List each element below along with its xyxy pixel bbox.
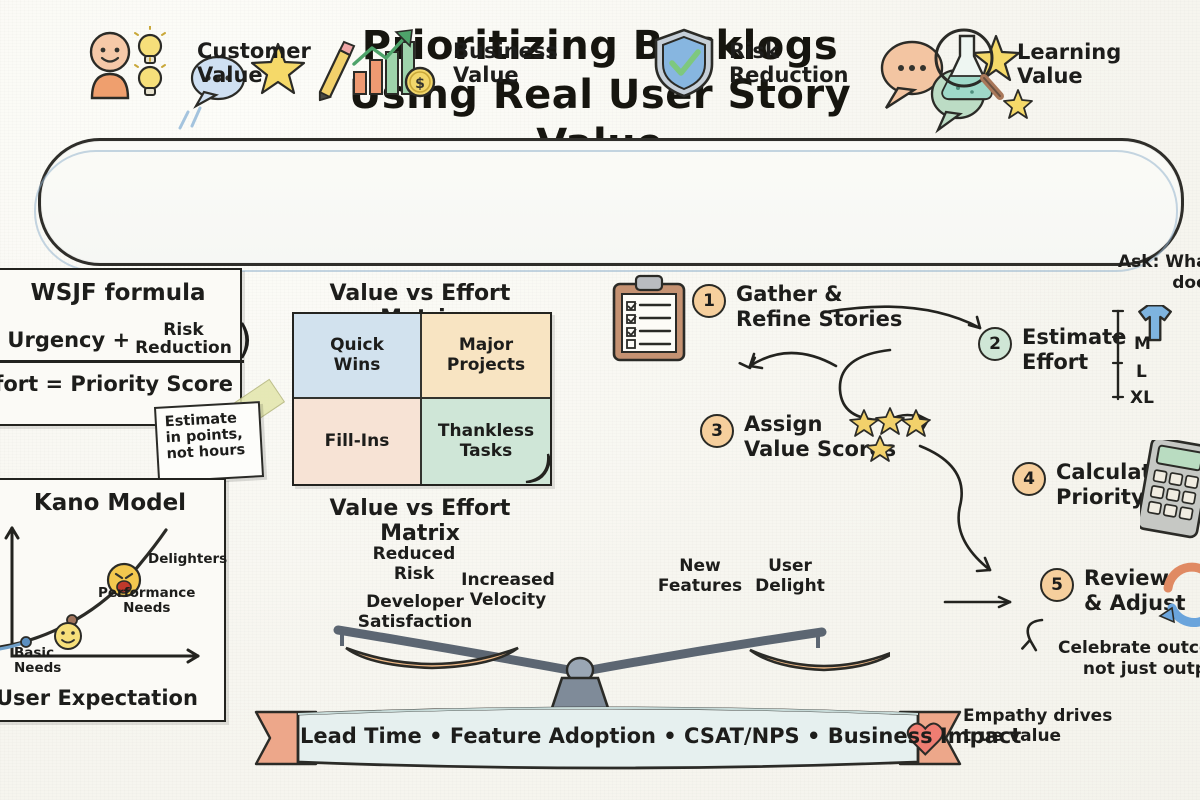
value-item-business[interactable]: $ Business Value <box>348 26 558 100</box>
person-lightbulb-icon <box>76 26 188 100</box>
value-types-banner <box>38 138 1184 266</box>
value-item-customer-label: Customer Value <box>197 39 311 87</box>
step-3-number: 3 <box>700 414 734 448</box>
step-2-number: 2 <box>978 327 1012 361</box>
value-item-learning[interactable]: Learning Value <box>928 26 1121 102</box>
kano-label-performance: Performance Needs <box>98 586 195 616</box>
tshirt-size-m: M <box>1134 334 1151 354</box>
value-item-learning-label: Learning Value <box>1017 40 1121 88</box>
value-item-business-label: Business Value <box>453 39 558 87</box>
celebrate-note-line-2: not just outpu <box>1058 659 1200 680</box>
matrix-quadrant-quick-wins[interactable]: QuickWins <box>294 314 422 399</box>
calculator-icon <box>1140 440 1200 540</box>
wsjf-title: WSJF formula <box>18 280 218 306</box>
metrics-ribbon-text: Lead Time • Feature Adoption • CSAT/NPS … <box>300 724 900 748</box>
flask-magnifier-icon <box>928 26 1008 102</box>
value-item-risk[interactable]: Risk Reduction <box>648 26 848 100</box>
celebrate-note-line-1: Celebrate outcor <box>1058 638 1200 659</box>
step-4-number: 4 <box>1012 462 1046 496</box>
matrix-quadrant-fill-ins[interactable]: Fill-Ins <box>294 399 422 484</box>
value-item-customer[interactable]: Customer Value <box>76 26 311 100</box>
value-effort-matrix: QuickWins MajorProjects Fill-Ins Thankle… <box>292 312 552 486</box>
celebrate-note: Celebrate outcor not just outpu <box>1058 638 1200 679</box>
bar-chart-dollar-icon: $ <box>348 26 444 100</box>
matrix-quadrant-major-projects[interactable]: MajorProjects <box>422 314 550 399</box>
kano-x-axis-label: User Expectation <box>0 686 198 710</box>
wsjf-fraction-bar <box>0 360 244 363</box>
ask-note: Ask: Wha doe <box>1118 252 1200 293</box>
matrix-page-curl-icon <box>520 452 558 490</box>
wsjf-risk-reduction: Risk Reduction <box>135 322 232 358</box>
step-1-label: Gather & Refine Stories <box>736 282 902 332</box>
ask-note-line-1: Ask: Wha <box>1118 252 1200 273</box>
svg-text:$: $ <box>415 76 425 92</box>
step-1-gather-refine-stories[interactable]: 1 Gather & Refine Stories <box>692 282 902 332</box>
tshirt-size-xl: XL <box>1130 388 1154 408</box>
scale-label-user-delight: User Delight <box>744 556 836 597</box>
scale-label-increased-velocity: Increased Velocity <box>456 570 560 611</box>
stars-icon <box>848 406 938 462</box>
wsjf-denominator: Effort = Priority Score <box>0 372 233 396</box>
value-item-risk-label: Risk Reduction <box>729 39 848 87</box>
wsjf-numerator: ue + Urgency + Risk Reduction ) <box>0 322 252 358</box>
empathy-note: Empathy drives true value <box>963 706 1112 747</box>
kano-label-basic: Basic Needs <box>14 646 61 676</box>
step-5-number: 5 <box>1040 568 1074 602</box>
clipboard-checklist-icon <box>608 272 692 364</box>
wsjf-numerator-text: ue + Urgency + <box>0 328 130 352</box>
kano-label-delighters: Delighters <box>148 552 227 567</box>
estimate-sticky-note: Estimate in points, not hours <box>154 401 264 483</box>
shield-check-icon <box>648 26 720 100</box>
sticky-note-text: Estimate in points, not hours <box>156 403 261 463</box>
scale-label-new-features: New Features <box>650 556 750 597</box>
step-1-number: 1 <box>692 284 726 318</box>
tshirt-size-l: L <box>1136 362 1147 382</box>
kano-title: Kano Model <box>20 490 200 516</box>
matrix-title-bottom: Value vs Effort Matrix <box>288 496 552 546</box>
ask-note-line-2: doe <box>1118 273 1200 294</box>
scale-label-reduced-risk: Reduced Risk <box>360 544 468 585</box>
step-2-estimate-effort[interactable]: 2 Estimate Effort <box>978 325 1126 375</box>
wsjf-close-paren: ) <box>237 323 253 357</box>
refresh-arrows-icon <box>1158 556 1200 634</box>
